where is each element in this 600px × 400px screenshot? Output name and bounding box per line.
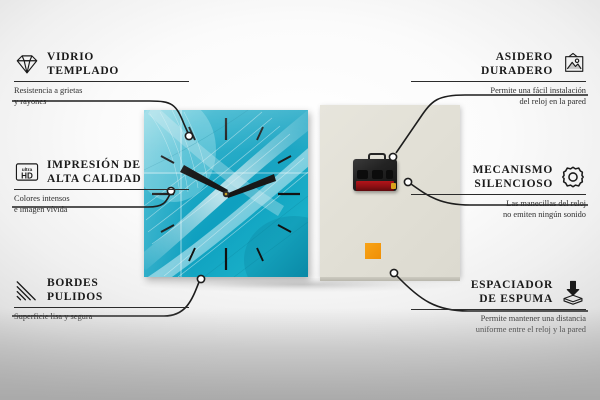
feature-desc-line2: uniforme entre el reloj y la pared	[411, 325, 586, 336]
feature-title: MECANISMO SILENCIOSO	[473, 163, 553, 191]
feature-desc-line1: Colores intensos	[14, 194, 189, 205]
gear-icon	[560, 164, 586, 190]
feature-title: BORDES PULIDOS	[47, 276, 103, 304]
picture-hanger-icon	[560, 51, 586, 77]
feature-bordes-pulidos: BORDES PULIDOS Superficie lisa y segura	[14, 276, 189, 323]
feature-divider	[14, 307, 189, 308]
feature-title-line2: SILENCIOSO	[473, 177, 553, 191]
foam-spacer-sample	[365, 243, 381, 259]
movement-dial-3	[386, 170, 393, 179]
movement-dial-2	[372, 170, 383, 179]
polished-edges-icon	[14, 277, 40, 303]
feature-desc-line1: Permite mantener una distancia	[411, 314, 586, 325]
feature-title: VIDRIO TEMPLADO	[47, 50, 119, 78]
feature-header: ultra HD IMPRESIÓN DE ALTA CALIDAD	[14, 158, 189, 186]
feature-mecanismo-silencioso: MECANISMO SILENCIOSO Las manecillas del …	[411, 163, 586, 220]
clock-minute-hand	[226, 174, 276, 198]
feature-desc-line2: e imagen vívida	[14, 205, 189, 216]
feature-header: MECANISMO SILENCIOSO	[411, 163, 586, 191]
feature-asidero-duradero: ASIDERO DURADERO Permite una fácil insta…	[411, 50, 586, 107]
feature-title: IMPRESIÓN DE ALTA CALIDAD	[47, 158, 141, 186]
feature-desc-line1: Superficie lisa y segura	[14, 312, 189, 323]
feature-divider	[411, 194, 586, 195]
feature-header: ESPACIADOR DE ESPUMA	[411, 278, 586, 306]
feature-espaciador-de-espuma: ESPACIADOR DE ESPUMA Permite mantener un…	[411, 278, 586, 335]
movement-dial-1	[357, 170, 368, 179]
feature-title-line2: PULIDOS	[47, 290, 103, 304]
feature-description: Resistencia a grietas y rayones	[14, 86, 189, 107]
feature-impresion-alta-calidad: ultra HD IMPRESIÓN DE ALTA CALIDAD Color…	[14, 158, 189, 215]
feature-description: Permite mantener una distancia uniforme …	[411, 314, 586, 335]
feature-title-line2: DE ESPUMA	[471, 292, 553, 306]
movement-battery	[356, 181, 394, 191]
diamond-icon	[14, 51, 40, 77]
feature-desc-line1: Las manecillas del reloj	[411, 199, 586, 210]
ultra-hd-icon-bottom-label: HD	[21, 172, 33, 181]
clock-movement	[353, 153, 397, 191]
feature-header: ASIDERO DURADERO	[411, 50, 586, 78]
feature-title-line2: DURADERO	[481, 64, 553, 78]
feature-title: ASIDERO DURADERO	[481, 50, 553, 78]
feature-title-line2: TEMPLADO	[47, 64, 119, 78]
feature-desc-line2: del reloj en la pared	[411, 97, 586, 108]
feature-header: VIDRIO TEMPLADO	[14, 50, 189, 78]
product-infographic: VIDRIO TEMPLADO Resistencia a grietas y …	[0, 0, 600, 400]
feature-title-line2: ALTA CALIDAD	[47, 172, 141, 186]
feature-title-line1: MECANISMO	[473, 163, 553, 177]
feature-title-line1: ESPACIADOR	[471, 278, 553, 292]
feature-description: Las manecillas del reloj no emiten ningú…	[411, 199, 586, 220]
feature-title-line1: VIDRIO	[47, 50, 119, 64]
foam-spacer-icon	[560, 279, 586, 305]
feature-title-line1: IMPRESIÓN DE	[47, 158, 141, 172]
feature-description: Superficie lisa y segura	[14, 312, 189, 323]
feature-divider	[14, 189, 189, 190]
feature-divider	[411, 309, 586, 310]
feature-header: BORDES PULIDOS	[14, 276, 189, 304]
feature-desc-line2: y rayones	[14, 97, 189, 108]
feature-title-line1: ASIDERO	[481, 50, 553, 64]
ultra-hd-icon: ultra HD	[14, 159, 40, 185]
feature-description: Colores intensos e imagen vívida	[14, 194, 189, 215]
feature-desc-line1: Resistencia a grietas	[14, 86, 189, 97]
feature-divider	[14, 81, 189, 82]
feature-description: Permite una fácil instalación del reloj …	[411, 86, 586, 107]
feature-title: ESPACIADOR DE ESPUMA	[471, 278, 553, 306]
feature-vidrio-templado: VIDRIO TEMPLADO Resistencia a grietas y …	[14, 50, 189, 107]
movement-body	[353, 159, 397, 191]
feature-title-line1: BORDES	[47, 276, 103, 290]
feature-divider	[411, 81, 586, 82]
feature-desc-line2: no emiten ningún sonido	[411, 210, 586, 221]
feature-desc-line1: Permite una fácil instalación	[411, 86, 586, 97]
